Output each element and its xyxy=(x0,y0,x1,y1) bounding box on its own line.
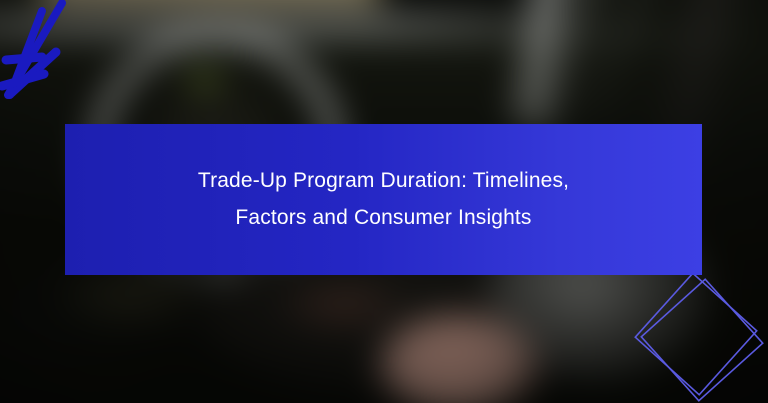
page-title: Trade-Up Program Duration: Timelines, Fa… xyxy=(198,163,569,235)
title-banner: Trade-Up Program Duration: Timelines, Fa… xyxy=(65,124,702,275)
hero-banner: Trade-Up Program Duration: Timelines, Fa… xyxy=(0,0,768,403)
